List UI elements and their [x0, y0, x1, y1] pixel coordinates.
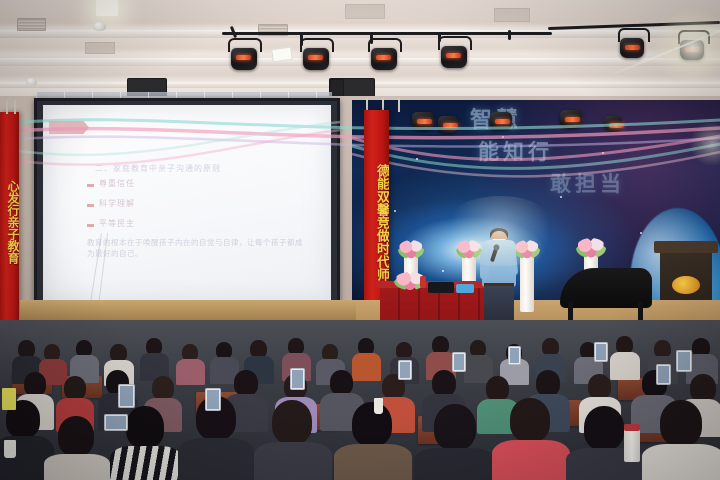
par-light-3 [371, 48, 397, 70]
projection-screen-frame: 二、家庭教育中亲子沟通的原则 尊重信任 科学理解 平等民主 教育的根本在于唤醒孩… [34, 98, 340, 312]
audience-body [254, 442, 332, 480]
air-vent [17, 18, 46, 31]
flower-arrangement [576, 238, 606, 258]
phone-camera[interactable] [205, 388, 221, 411]
phone-camera[interactable] [118, 384, 135, 408]
backdrop-text-line-2: 能知行 [478, 136, 553, 166]
conference-hall-scene: 智慧 能知行 敢担当 二、家庭教育中亲子沟通的原则 尊重信任 科学理解 平等民主… [0, 0, 720, 480]
par-light-2 [303, 48, 329, 70]
backdrop-par-light-5 [604, 116, 622, 131]
audience-head [352, 402, 392, 446]
slide-bullet-text: 科学理解 [99, 198, 135, 209]
light-truss-bar [222, 32, 552, 35]
audience-body [610, 352, 640, 380]
audience-body [642, 444, 720, 480]
truss-cable [508, 30, 511, 40]
audience-head [584, 406, 624, 450]
audience-body [414, 448, 496, 480]
presenter-arm-left [480, 250, 489, 280]
slide-bullet-marker [87, 224, 94, 227]
par-light-4 [441, 46, 467, 68]
phone-camera[interactable] [398, 360, 412, 380]
ceiling-dome-light [26, 78, 37, 86]
backdrop-par-light-3 [490, 112, 512, 130]
table-bottle [420, 276, 426, 288]
audience-body-striped [110, 446, 182, 480]
audience-head [24, 372, 46, 396]
audience-body [352, 353, 381, 381]
phone-camera[interactable] [676, 350, 692, 372]
ceiling-panel [494, 8, 530, 22]
audience-head [588, 374, 611, 399]
audience-body [178, 438, 254, 480]
phone-camera[interactable] [594, 342, 608, 362]
projection-screen: 二、家庭教育中亲子沟通的原则 尊重信任 科学理解 平等民主 教育的根本在于唤醒孩… [43, 105, 331, 301]
audience-head [272, 400, 312, 444]
paper-cup [4, 440, 16, 458]
podium-logo-icon [672, 276, 700, 294]
audience-head [434, 404, 476, 450]
audience-head [486, 376, 509, 401]
notebook [2, 388, 16, 410]
backdrop-text-line-3: 敢担当 [550, 168, 625, 198]
ceiling-beam [0, 58, 720, 66]
light-tag-label [271, 47, 293, 63]
audience-head [432, 370, 456, 396]
banner-left: 心发行亲子教育 [0, 112, 19, 326]
slide-bullet-text: 平等民主 [99, 218, 135, 229]
flower-arrangement [514, 240, 540, 259]
table-equipment [428, 282, 454, 293]
ceiling-panel [345, 4, 385, 19]
audience-body [334, 444, 412, 480]
audience-head [152, 376, 174, 400]
thermos-cap [624, 424, 640, 431]
audience-head [234, 370, 258, 396]
audience-head [64, 376, 86, 400]
slide-bullet-marker [87, 184, 94, 187]
banner-string [6, 100, 8, 114]
par-light-5 [620, 38, 644, 58]
audience-body [44, 454, 110, 480]
par-light-6 [680, 40, 704, 60]
audience-head [660, 400, 702, 446]
phone-camera[interactable] [104, 414, 128, 431]
slide-heading: 二、家庭教育中亲子沟通的原则 [95, 163, 221, 174]
audience-head [330, 370, 353, 395]
slide-bullet-text: 尊重信任 [99, 178, 135, 189]
backdrop-par-light-2 [438, 116, 458, 133]
phone-camera[interactable] [452, 352, 466, 372]
banner-string [14, 100, 16, 114]
audience-head [536, 370, 560, 396]
flower-arrangement [398, 240, 424, 259]
ceiling-panel [85, 42, 115, 54]
flower-arrangement [456, 240, 482, 259]
thermos-bottle [624, 428, 640, 462]
slide-bullet-marker [87, 204, 94, 207]
phone-camera[interactable] [656, 364, 671, 385]
flower-stand-3 [520, 252, 534, 312]
slide-body-text: 教育的根本在于唤醒孩子内在的自觉与自律，让每个孩子都成为最好的自己。 [87, 237, 307, 260]
audience-head [690, 374, 716, 402]
ceiling-dome-light [93, 22, 106, 31]
phone-camera[interactable] [508, 346, 521, 365]
house-light [96, 0, 118, 16]
stage-apron-left [20, 300, 356, 322]
audience-head [510, 398, 550, 442]
paper-cup [374, 398, 383, 414]
audience-head [58, 416, 94, 456]
slide-title-tab [49, 121, 89, 134]
phone-camera[interactable] [290, 368, 305, 390]
par-light-1 [231, 48, 257, 70]
banner-string [398, 98, 400, 112]
audience-head [126, 406, 164, 448]
table-basin [456, 284, 474, 293]
backdrop-par-light-4 [560, 110, 582, 128]
backdrop-par-light-1 [412, 112, 434, 130]
audience-body [492, 440, 570, 480]
audience-body [176, 359, 205, 385]
